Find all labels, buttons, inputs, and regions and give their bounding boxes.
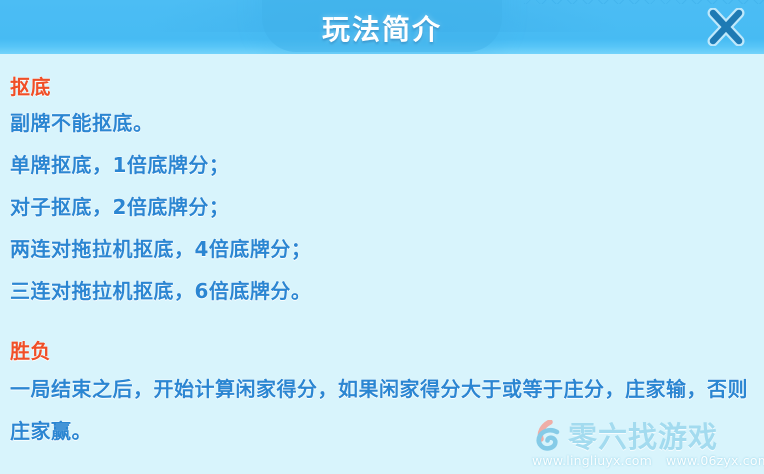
rule-line: 对子抠底，2倍底牌分； [10,186,764,228]
rule-line: 两连对拖拉机抠底，4倍底牌分； [10,228,764,270]
watermark-urls: www.lingliuyx.com www.06zyx.com [530,453,758,468]
rule-line: 三连对拖拉机抠底，6倍底牌分。 [10,270,764,312]
watermark-url-secondary: www.06zyx.com [666,453,764,468]
rule-line: 副牌不能抠底。 [10,102,764,144]
rule-line: 单牌抠底，1倍底牌分； [10,144,764,186]
close-x-icon [706,8,746,46]
rules-section-diba: 抠底 副牌不能抠底。 单牌抠底，1倍底牌分； 对子抠底，2倍底牌分； 两连对拖拉… [10,72,764,312]
dialog-header: 玩法简介 [0,0,764,54]
watermark-logo-row: 零六找游戏 [530,420,758,454]
section-heading: 胜负 [10,334,764,368]
header-triangle-notch-pattern [524,0,764,4]
site-watermark: 零六找游戏 www.lingliuyx.com www.06zyx.com [530,420,758,470]
rules-content-area: 抠底 副牌不能抠底。 单牌抠底，1倍底牌分； 对子抠底，2倍底牌分； 两连对拖拉… [0,54,764,474]
watermark-url-primary: www.lingliuyx.com [532,453,652,468]
swirl-logo-icon [530,420,564,454]
section-heading: 抠底 [10,72,764,102]
watermark-brand-text: 零六找游戏 [568,421,718,453]
dialog-title: 玩法简介 [0,8,764,48]
close-button[interactable] [706,8,746,46]
